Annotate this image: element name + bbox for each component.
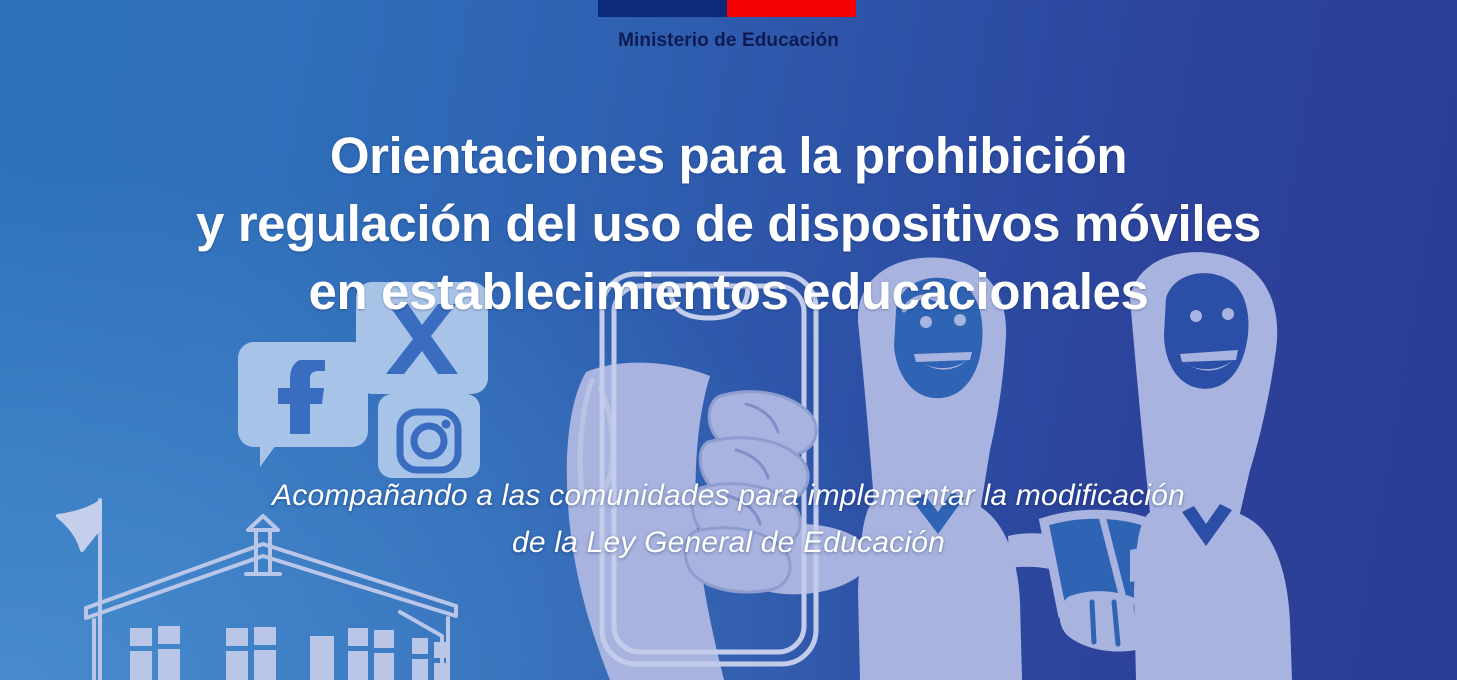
title-line-1: Orientaciones para la prohibición	[0, 122, 1457, 190]
title-line-2: y regulación del uso de dispositivos móv…	[0, 190, 1457, 258]
flag-red-segment	[727, 0, 856, 17]
title-line-3: en establecimientos educacionales	[0, 258, 1457, 326]
flag-blue-segment	[598, 0, 727, 17]
subtitle-line-2: de la Ley General de Educación	[0, 519, 1457, 566]
ministry-label: Ministerio de Educación	[0, 30, 1457, 52]
instagram-icon	[396, 408, 462, 474]
instagram-bubble	[378, 394, 480, 478]
page-subtitle: Acompañando a las comunidades para imple…	[0, 472, 1457, 566]
chile-flag-bar	[598, 0, 856, 17]
page-title: Orientaciones para la prohibición y regu…	[0, 122, 1457, 326]
facebook-bubble	[238, 342, 368, 447]
slide-canvas: Ministerio de Educación Orientaciones pa…	[0, 0, 1457, 680]
facebook-icon	[274, 360, 332, 434]
subtitle-line-1: Acompañando a las comunidades para imple…	[0, 472, 1457, 519]
